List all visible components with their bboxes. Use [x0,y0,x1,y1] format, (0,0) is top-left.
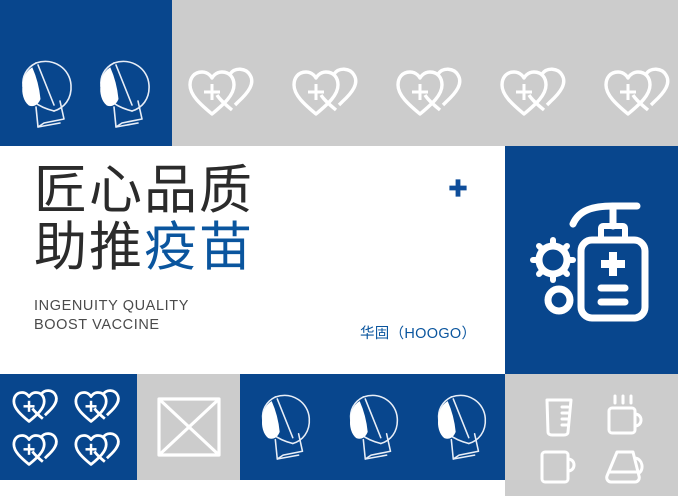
cross-symbol-icon [601,252,625,276]
masked-head-icon [92,55,158,135]
double-heart-plus-icon [71,430,129,470]
double-heart-plus-icon [186,64,264,126]
masked-head-icon [254,389,318,467]
bottom-masked-head-panel [240,374,505,480]
bottom-left-hearts-panel [0,374,137,480]
double-heart-plus-icon [290,64,368,126]
headline-line-2-dark: 助推 [34,218,144,277]
vessel-grid [527,392,657,490]
mug-icon [537,446,581,488]
plus-cross-icon [448,178,468,198]
top-masked-head-row [14,52,164,138]
sanitizer-bottle-icon [527,196,659,326]
double-heart-plus-icon [602,64,678,126]
masked-head-icon [430,389,494,467]
bottom-masked-head-row [254,390,494,466]
top-heart-row [186,60,664,130]
subtitle: INGENUITY QUALITY BOOST VACCINE [34,297,189,335]
masked-head-icon [14,55,80,135]
headline-panel: 匠心品质 助推疫苗 INGENUITY QUALITY BOOST VACCIN… [0,146,505,358]
bottom-right-gray-panel [505,374,678,496]
double-heart-plus-icon [71,387,129,427]
virus-germ-small-icon [548,289,570,311]
headline-line-2-accent: 疫苗 [144,218,254,277]
headline-line-1: 匠心品质 [34,162,254,219]
middle-band: 匠心品质 助推疫苗 INGENUITY QUALITY BOOST VACCIN… [0,146,678,374]
poster-canvas: 匠心品质 助推疫苗 INGENUITY QUALITY BOOST VACCIN… [0,0,678,496]
double-heart-plus-icon [394,64,472,126]
masked-head-icon [342,389,406,467]
subtitle-line-1: INGENUITY QUALITY [34,297,189,316]
steaming-cup-icon [603,394,649,438]
heart-grid [8,386,130,470]
kettle-pot-icon [603,446,649,488]
image-placeholder-panel [137,374,240,480]
virus-germ-icon [533,240,573,280]
headline-line-2: 助推疫苗 [34,219,254,276]
top-band [0,0,678,146]
subtitle-line-2: BOOST VACCINE [34,316,189,335]
measuring-beaker-icon [537,394,581,438]
broken-image-placeholder-icon [156,396,222,458]
brand-name: 华固（HOOGO） [360,322,476,343]
double-heart-plus-icon [9,387,67,427]
double-heart-plus-icon [9,430,67,470]
page-title: 匠心品质 助推疫苗 [34,162,254,276]
double-heart-plus-icon [498,64,576,126]
bottom-band [0,374,678,480]
sanitizer-panel [505,146,678,374]
